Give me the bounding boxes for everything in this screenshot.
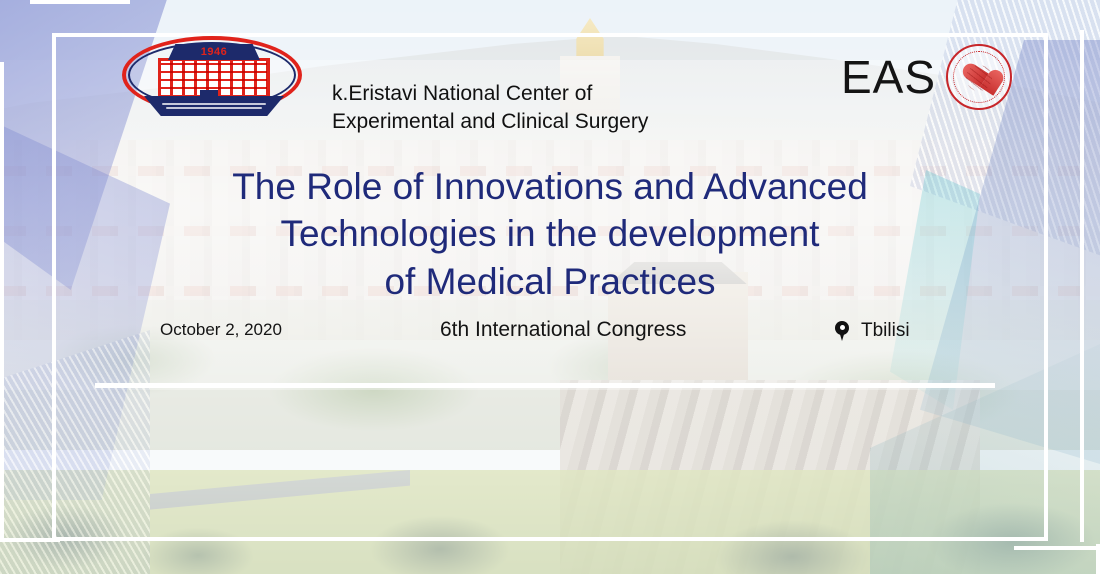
frame-accent-top-left [30, 0, 130, 4]
heart-vessels [966, 65, 992, 91]
event-title-line-3: of Medical Practices [60, 258, 1040, 305]
ribbon-text-line [166, 107, 262, 109]
map-pin-icon [835, 321, 849, 341]
logo-year-text: 1946 [201, 47, 227, 58]
logo-year-banner: 1946 [168, 44, 260, 60]
heart-emblem-icon [946, 44, 1012, 110]
event-date: October 2, 2020 [160, 320, 282, 340]
ribbon-text-line [162, 103, 266, 105]
eristavi-center-logo: 1946 [122, 36, 302, 114]
event-title-line-1: The Role of Innovations and Advanced [60, 163, 1040, 210]
event-city: Tbilisi [861, 320, 910, 342]
thumbnail-strip [0, 395, 1100, 505]
eas-abbreviation: EAS [841, 54, 936, 100]
horizontal-divider [95, 383, 995, 388]
frame-accent-left-bottom [0, 538, 60, 542]
event-title: The Role of Innovations and Advanced Tec… [60, 163, 1040, 305]
event-edition: 6th International Congress [440, 318, 686, 342]
eas-logo: EAS [841, 44, 1012, 110]
conference-banner: 1946 EAS k.Eristavi National Center of E… [0, 0, 1100, 574]
event-location: Tbilisi [835, 320, 910, 342]
frame-accent-right-corner [1096, 544, 1100, 574]
organization-line-1: k.Eristavi National Center of [332, 80, 762, 108]
event-title-line-2: Technologies in the development [60, 210, 1040, 257]
frame-accent-right-bottom [1014, 546, 1100, 550]
map-pin-hole [840, 325, 845, 330]
organization-name: k.Eristavi National Center of Experiment… [332, 80, 762, 137]
event-meta-row: October 2, 2020 6th International Congre… [60, 320, 1040, 348]
logo-georgian-ribbon [144, 96, 284, 116]
organization-line-2: Experimental and Clinical Surgery [332, 108, 762, 136]
